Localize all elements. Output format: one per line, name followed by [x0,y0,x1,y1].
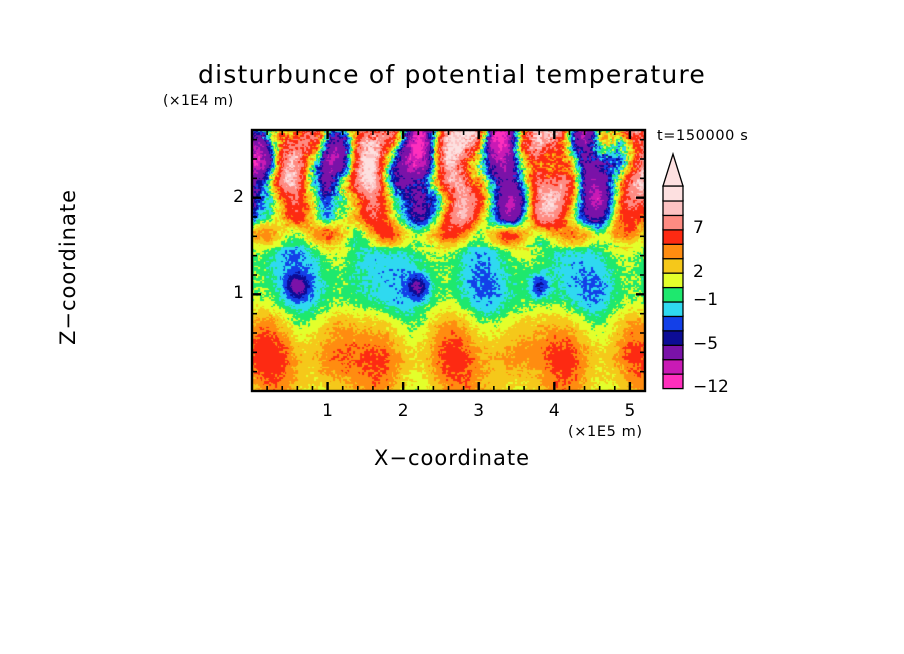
colorbar-tick-label: −1 [693,290,718,310]
colorbar-band [663,273,683,288]
colorbar-band [663,287,683,302]
colorbar-band [663,359,683,374]
colorbar-band [663,229,683,244]
x-tick-label: 5 [615,401,645,421]
x-tick-label: 3 [464,401,494,421]
contour-plot [0,0,904,654]
x-tick-label: 2 [388,401,418,421]
colorbar-tick-label: 2 [693,262,704,282]
colorbar-extend-arrow [663,154,683,186]
x-tick-label: 1 [313,401,343,421]
y-tick-label: 2 [220,187,244,207]
x-tick-label: 4 [539,401,569,421]
colorbar-band [663,215,683,230]
colorbar-band [663,301,683,316]
colorbar-band [663,186,683,201]
figure-canvas: disturbunce of potential temperature (×1… [0,0,904,654]
colorbar-band [663,345,683,360]
colorbar-band [663,244,683,259]
colorbar-band [663,258,683,273]
contour-field [252,130,645,391]
colorbar-tick-label: −12 [693,377,729,397]
colorbar-band [663,330,683,345]
colorbar-band [663,374,683,389]
colorbar-band [663,200,683,215]
y-tick-label: 1 [220,283,244,303]
colorbar-tick-label: −5 [693,334,718,354]
colorbar-tick-label: 7 [693,218,704,238]
colorbar-band [663,316,683,331]
